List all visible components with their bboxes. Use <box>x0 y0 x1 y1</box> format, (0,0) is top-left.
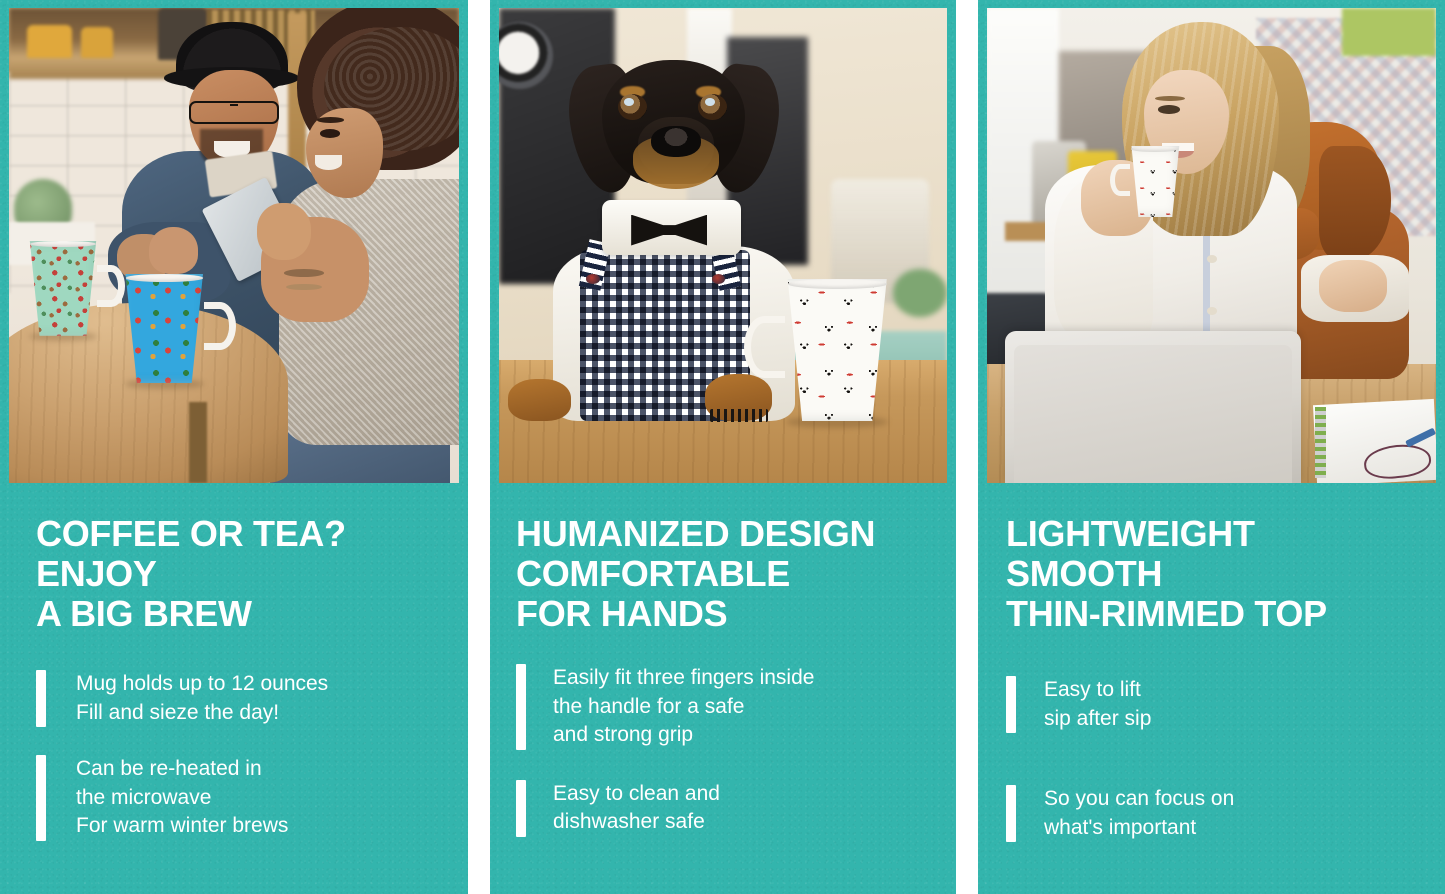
mug-christmas-mint <box>23 241 104 336</box>
feature-panels-board: COFFEE OR TEA? ENJOY A BIG BREW Mug hold… <box>0 0 1445 894</box>
feature-panel-humanized-design: HUMANIZED DESIGN COMFORTABLE FOR HANDS E… <box>490 0 956 894</box>
cafe-couple-scene <box>9 8 459 483</box>
bullet-bar-icon <box>516 780 526 837</box>
panel-2-headline: HUMANIZED DESIGN COMFORTABLE FOR HANDS <box>516 514 956 634</box>
bullet-bar-icon <box>516 664 526 750</box>
mug-paw-print-bones <box>777 279 898 422</box>
bullet-item: Mug holds up to 12 ounces Fill and sieze… <box>36 670 468 727</box>
bullet-item: Easy to lift sip after sip <box>1006 676 1445 733</box>
mug-santa-palm-blue <box>117 274 212 383</box>
bullet-text: Easily fit three fingers inside the hand… <box>526 664 814 750</box>
bullet-text: Can be re-heated in the microwave For wa… <box>46 755 288 841</box>
panel-3-photo <box>987 8 1436 483</box>
bullet-item: Easy to clean and dishwasher safe <box>516 780 956 837</box>
bullet-text: Easy to lift sip after sip <box>1016 676 1151 733</box>
panel-3-headline: LIGHTWEIGHT SMOOTH THIN-RIMMED TOP <box>1006 514 1445 634</box>
panel-1-photo <box>9 8 459 483</box>
mug-paw-print-held <box>1126 146 1184 217</box>
bullet-text: Easy to clean and dishwasher safe <box>526 780 720 837</box>
bullet-bar-icon <box>1006 676 1016 733</box>
panel-2-bullet-list: Easily fit three fingers inside the hand… <box>516 664 956 837</box>
panel-gap <box>468 0 490 894</box>
bullet-bar-icon <box>36 670 46 727</box>
panel-1-headline: COFFEE OR TEA? ENJOY A BIG BREW <box>36 514 468 634</box>
bullet-item: So you can focus on what's important <box>1006 785 1445 842</box>
panel-2-photo <box>499 8 947 483</box>
panel-3-content: LIGHTWEIGHT SMOOTH THIN-RIMMED TOP Easy … <box>978 483 1445 894</box>
bullet-item: Easily fit three fingers inside the hand… <box>516 664 956 750</box>
bullet-bar-icon <box>36 755 46 841</box>
bullet-bar-icon <box>1006 785 1016 842</box>
bullet-item: Can be re-heated in the microwave For wa… <box>36 755 468 841</box>
bullet-text: Mug holds up to 12 ounces Fill and sieze… <box>46 670 328 727</box>
feature-panel-coffee-or-tea: COFFEE OR TEA? ENJOY A BIG BREW Mug hold… <box>0 0 468 894</box>
bullet-text: So you can focus on what's important <box>1016 785 1234 842</box>
panel-3-bullet-list: Easy to lift sip after sip So you can fo… <box>1006 676 1445 842</box>
panel-2-content: HUMANIZED DESIGN COMFORTABLE FOR HANDS E… <box>490 483 956 894</box>
panel-1-bullet-list: Mug holds up to 12 ounces Fill and sieze… <box>36 670 468 841</box>
panel-gap <box>956 0 978 894</box>
woman-vizsla-laptop-scene <box>987 8 1436 483</box>
dachshund-scene <box>499 8 947 483</box>
panel-1-content: COFFEE OR TEA? ENJOY A BIG BREW Mug hold… <box>0 483 468 894</box>
feature-panel-lightweight: LIGHTWEIGHT SMOOTH THIN-RIMMED TOP Easy … <box>978 0 1445 894</box>
